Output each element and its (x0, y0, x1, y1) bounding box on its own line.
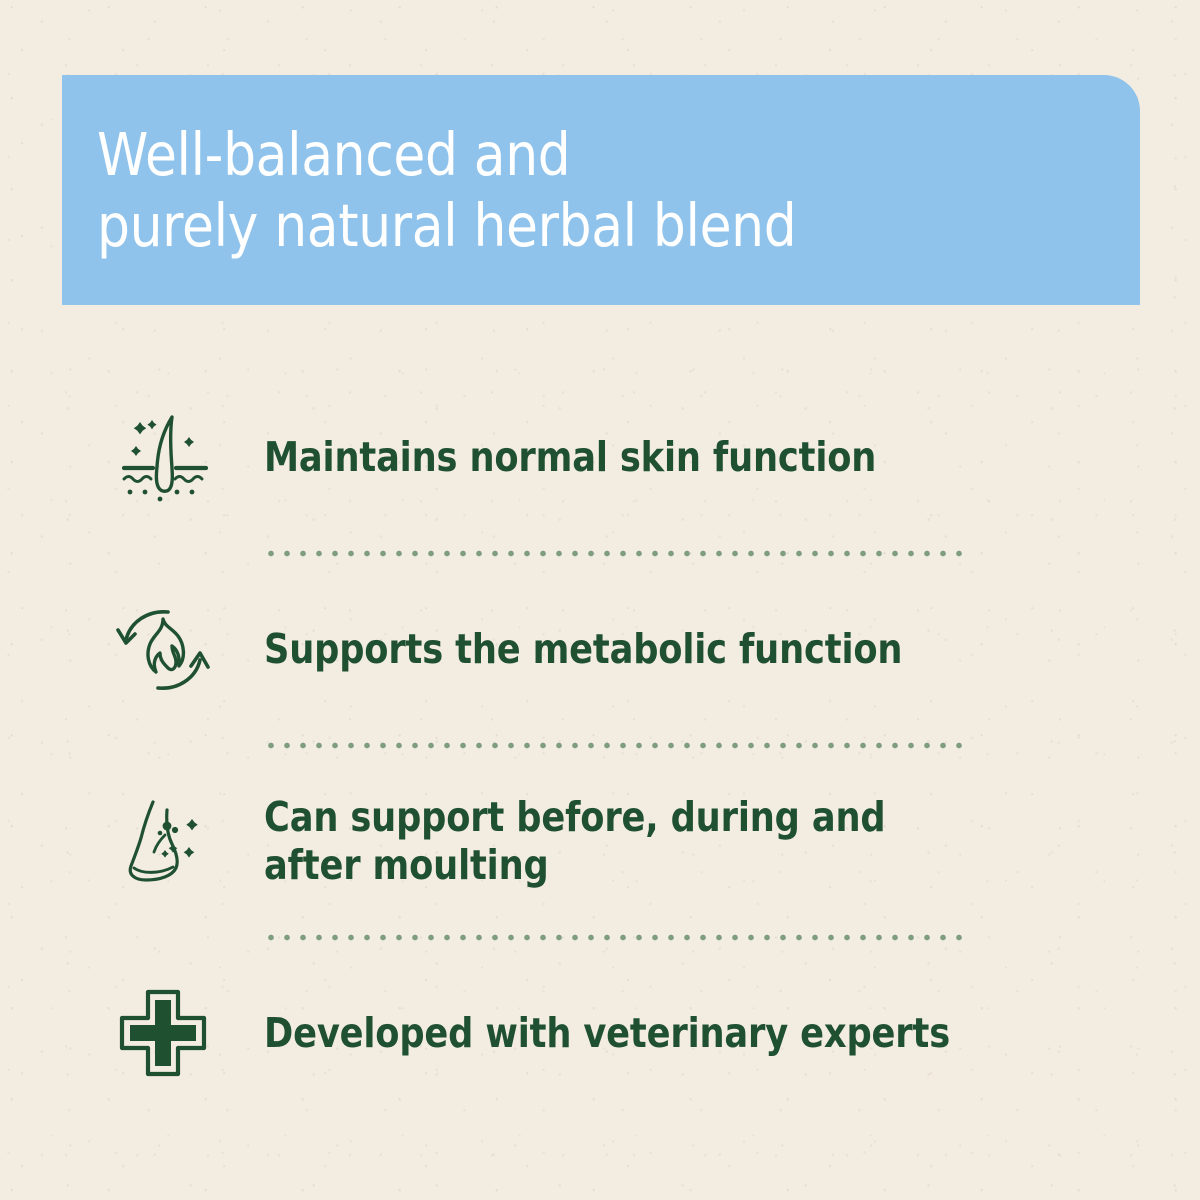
hair-follicle-skin-icon (110, 404, 216, 510)
benefit-divider (0, 724, 1200, 766)
page-title: Well-balanced and purely natural herbal … (97, 119, 980, 262)
benefit-divider (0, 916, 1200, 958)
benefit-divider (0, 532, 1200, 574)
benefit-item-metabolic-function: Supports the metabolic function (0, 574, 1200, 724)
horse-hoof-moulting-icon (110, 788, 216, 894)
medical-cross-icon (110, 980, 216, 1086)
header-banner: Well-balanced and purely natural herbal … (62, 75, 1140, 305)
benefit-label: Maintains normal skin function (264, 433, 876, 481)
benefit-label: Can support before, during and after mou… (264, 793, 885, 890)
benefit-item-moulting: Can support before, during and after mou… (0, 766, 1200, 916)
benefit-item-skin-function: Maintains normal skin function (0, 382, 1200, 532)
benefit-label: Supports the metabolic function (264, 625, 902, 673)
flame-recycle-metabolism-icon (110, 596, 216, 702)
benefit-label: Developed with veterinary experts (264, 1009, 950, 1057)
benefit-item-veterinary-experts: Developed with veterinary experts (0, 958, 1200, 1108)
benefits-list: Maintains normal skin function Supports … (0, 382, 1200, 1108)
